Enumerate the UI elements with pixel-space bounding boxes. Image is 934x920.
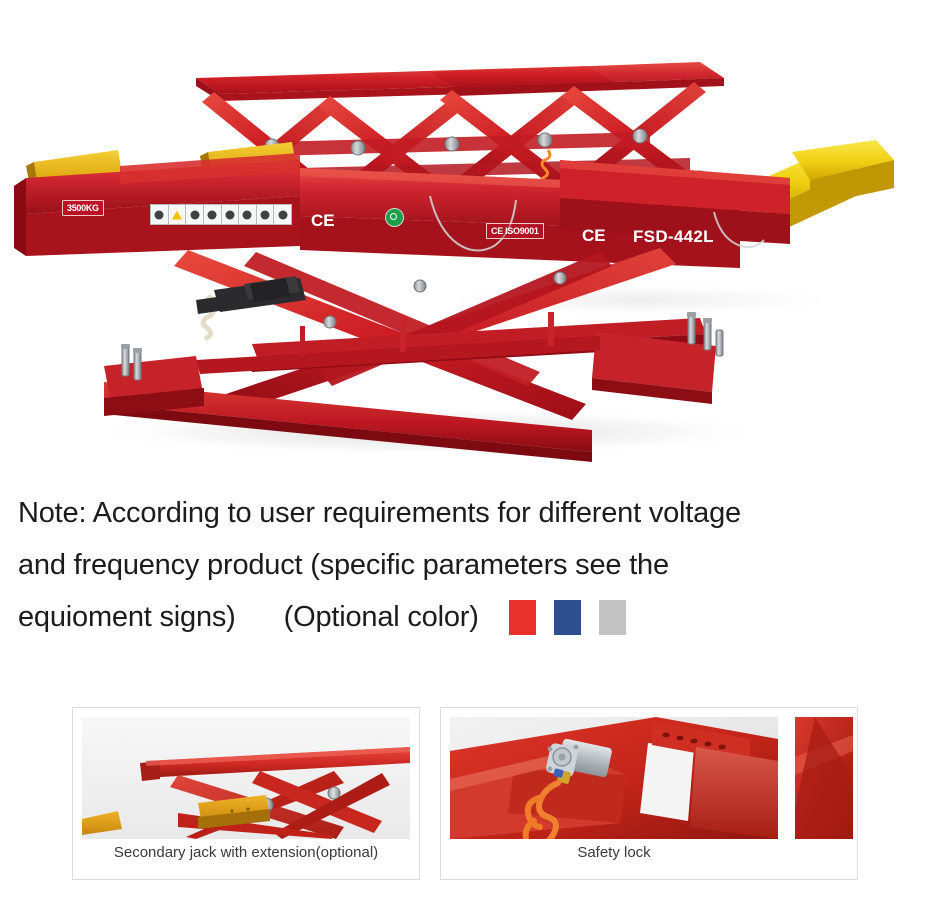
ce-mark-left: CE: [311, 211, 335, 231]
optional-color-label: (Optional color): [284, 591, 479, 643]
model-number-label: FSD-442L: [633, 227, 714, 247]
decal-cell-7: [257, 205, 275, 224]
decal-cell-warning: [169, 205, 187, 224]
green-circular-logo-icon: [385, 208, 404, 227]
product-hero-image: [0, 0, 934, 470]
note-line-2: and frequency product (specific paramete…: [18, 539, 918, 591]
thumbnail-image-clipped: [795, 717, 853, 839]
decal-cell-6: [239, 205, 257, 224]
thumbnail-image-safety-lock: [450, 717, 778, 839]
decal-cell-4: [204, 205, 222, 224]
note-line-1: Note: According to user requirements for…: [18, 487, 918, 539]
note-paragraph: Note: According to user requirements for…: [18, 487, 918, 643]
decal-cell-3: [186, 205, 204, 224]
note-line-3-row: equioment signs) (Optional color): [18, 591, 918, 643]
color-swatch-blue[interactable]: [554, 600, 581, 635]
capacity-label: 3500KG: [62, 200, 104, 216]
thumbnail-card-secondary-jack[interactable]: Secondary jack with extension(optional): [72, 707, 420, 880]
iso-certification-label: CE ISO9001: [486, 223, 544, 239]
decal-cell-5: [222, 205, 240, 224]
decal-cell-8: [274, 205, 291, 224]
decal-cell-1: [151, 205, 169, 224]
warning-decal-strip: [150, 204, 292, 225]
color-swatch-red[interactable]: [509, 600, 536, 635]
ce-mark-right: CE: [582, 226, 606, 246]
thumbnail-caption-secondary-jack: Secondary jack with extension(optional): [73, 844, 419, 861]
thumbnail-card-clipped[interactable]: [786, 707, 858, 880]
thumbnail-card-safety-lock[interactable]: Safety lock: [440, 707, 788, 880]
color-swatch-grey[interactable]: [599, 600, 626, 635]
thumbnail-caption-safety-lock: Safety lock: [441, 844, 787, 861]
note-line-3: equioment signs): [18, 591, 236, 643]
thumbnail-gallery: Secondary jack with extension(optional): [72, 707, 932, 882]
color-swatch-group: [509, 600, 626, 635]
thumbnail-image-secondary-jack: [82, 717, 410, 839]
